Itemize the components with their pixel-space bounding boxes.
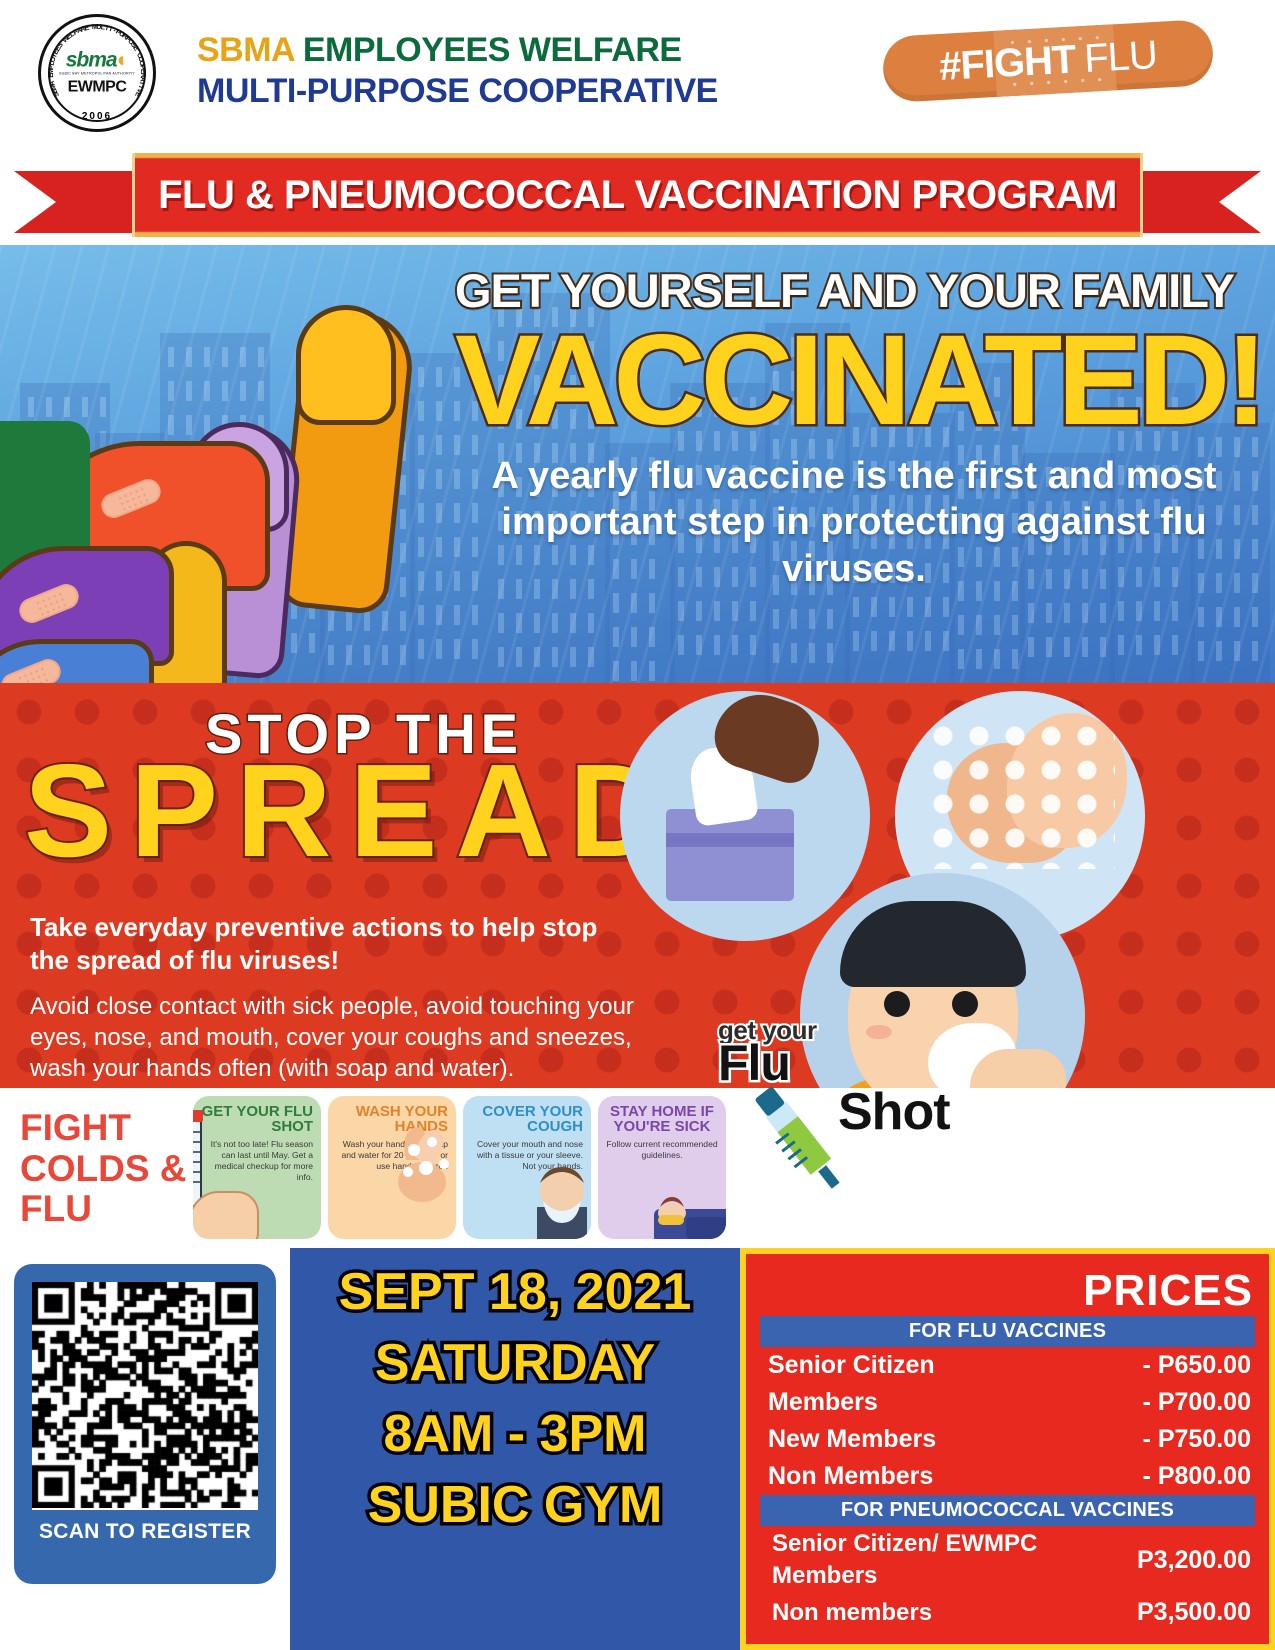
bandage-hashtag: #FIGHT	[938, 37, 1077, 90]
spread-body-1: Take everyday preventive actions to help…	[30, 911, 640, 976]
qr-label: SCAN TO REGISTER	[32, 1520, 258, 1544]
program-ribbon: FLU & PNEUMOCOCCAL VACCINATION PROGRAM	[0, 145, 1275, 245]
price-value: - P800.00	[1143, 1462, 1251, 1491]
logo-acronym: EWMPC	[54, 79, 140, 97]
fight-colds-flu-heading: FIGHT COLDS & FLU	[20, 1108, 190, 1230]
price-row: Senior Citizen/ EWMPC Members P3,200.00	[746, 1526, 1269, 1595]
card-title: COVER YOUR COUGH	[471, 1104, 583, 1135]
flexing-arms-illustration	[0, 291, 460, 683]
poster-header: SBMA EMPLOYEES WELFARE MULTI-PURPOSE COO…	[0, 0, 1275, 145]
hand-holding-syringe-icon	[193, 1191, 259, 1239]
event-time: 8AM - 3PM	[384, 1400, 647, 1469]
hero-body-text: A yearly flu vaccine is the first and mo…	[455, 453, 1261, 592]
price-row: Senior Citizen - P650.00	[746, 1347, 1269, 1384]
org-title-sbma: SBMA	[197, 31, 294, 69]
card-body: Follow current recommended guidelines.	[606, 1139, 718, 1161]
event-day: SATURDAY	[375, 1329, 655, 1398]
pneumococcal-vaccines-header: FOR PNEUMOCOCCAL VACCINES	[760, 1495, 1255, 1526]
bandage-text: #FIGHT FLU	[881, 19, 1214, 103]
tissue-illustration	[620, 691, 870, 941]
bed-rest-icon	[654, 1191, 726, 1239]
boy-eye-right	[952, 991, 978, 1017]
prevention-card-flu-shot: GET YOUR FLU SHOT It's not too late! Flu…	[193, 1096, 321, 1239]
bottom-section: SCAN TO REGISTER SEPT 18, 2021 SATURDAY …	[0, 1248, 1275, 1650]
prevention-card-wash-hands: WASH YOUR HANDS Wash your hands with soa…	[328, 1096, 456, 1239]
spread-headline: SPREAD	[24, 745, 682, 877]
price-value: - P750.00	[1143, 1425, 1251, 1454]
logo-ring-text: SBMA EMPLOYEES WELFARE MULTI-PURPOSE COO…	[41, 17, 153, 129]
sbma-tagline: SUBIC BAY METROPOLITAN AUTHORITY	[54, 72, 140, 76]
card-title: STAY HOME IF YOU'RE SICK	[606, 1104, 718, 1135]
qr-registration-card[interactable]: SCAN TO REGISTER	[14, 1264, 276, 1584]
logo-inner: sbma◐ SUBIC BAY METROPOLITAN AUTHORITY E…	[54, 50, 140, 97]
prices-header: PRICES	[746, 1254, 1269, 1316]
syringe-icon	[755, 1080, 845, 1200]
sbma-wordmark: sbma◐	[54, 50, 140, 71]
price-label: Non Members	[768, 1462, 1143, 1491]
tissue-box-icon	[666, 809, 794, 901]
card-body: It's not too late! Flu season can last u…	[201, 1139, 313, 1184]
prices-panel: PRICES FOR FLU VACCINES Senior Citizen -…	[740, 1248, 1275, 1650]
prevention-card-cover-cough: COVER YOUR COUGH Cover your mouth and no…	[463, 1096, 591, 1239]
stop-the-spread-section: STOP THE SPREAD Take everyday preventive…	[0, 683, 1275, 1088]
ewmpc-logo: SBMA EMPLOYEES WELFARE MULTI-PURPOSE COO…	[38, 14, 173, 134]
price-value: P3,500.00	[1137, 1598, 1251, 1627]
cough-icon	[529, 1163, 591, 1239]
price-row: New Members - P750.00	[746, 1421, 1269, 1458]
prevention-cards: GET YOUR FLU SHOT It's not too late! Flu…	[193, 1096, 726, 1239]
hero-headline-2: VACCINATED!	[455, 320, 1261, 443]
flu-vaccines-header: FOR FLU VACCINES	[760, 1316, 1255, 1347]
logo-year: 2006	[82, 111, 112, 122]
organization-title: SBMA EMPLOYEES WELFARE MULTI-PURPOSE COO…	[197, 32, 718, 109]
hero-text-block: GET YOURSELF AND YOUR FAMILY VACCINATED!…	[455, 263, 1261, 592]
hero-section: GET YOURSELF AND YOUR FAMILY VACCINATED!…	[0, 245, 1275, 683]
shot-word: Shot	[838, 1082, 950, 1142]
boy-eye-left	[884, 991, 910, 1017]
prices-title: PRICES	[1083, 1266, 1253, 1316]
card-title: GET YOUR FLU SHOT	[201, 1104, 313, 1135]
price-label: New Members	[768, 1425, 1143, 1454]
org-title-line2: MULTI-PURPOSE COOPERATIVE	[197, 73, 718, 110]
price-row: Non members P3,500.00	[746, 1595, 1269, 1631]
prevention-strip: FIGHT COLDS & FLU GET YOUR FLU SHOT It's…	[0, 1088, 1275, 1248]
price-label: Senior Citizen	[768, 1351, 1143, 1380]
org-title-line1: SBMA EMPLOYEES WELFARE	[197, 32, 718, 69]
logo-seal: SBMA EMPLOYEES WELFARE MULTI-PURPOSE COO…	[38, 14, 156, 132]
soap-bubbles-icon	[925, 719, 1115, 869]
price-label: Non members	[772, 1597, 1137, 1629]
spread-body-2: Avoid close contact with sick people, av…	[30, 991, 655, 1085]
price-row: Members - P700.00	[746, 1384, 1269, 1421]
price-value: - P650.00	[1143, 1351, 1251, 1380]
boy-hair	[840, 901, 1026, 987]
ribbon-band: FLU & PNEUMOCOCCAL VACCINATION PROGRAM	[132, 153, 1143, 237]
price-value: - P700.00	[1143, 1388, 1251, 1417]
washing-hands-icon	[392, 1120, 456, 1212]
price-label: Senior Citizen/ EWMPC Members	[772, 1528, 1137, 1593]
boy-cheek-left	[866, 1025, 892, 1039]
event-venue: SUBIC GYM	[368, 1471, 663, 1540]
fight-flu-bandage-badge: #FIGHT FLU	[881, 19, 1214, 103]
bandage-flu: FLU	[1083, 32, 1158, 81]
org-title-employees-welfare: EMPLOYEES WELFARE	[303, 31, 682, 69]
price-value: P3,200.00	[1137, 1546, 1251, 1575]
event-details-panel: SEPT 18, 2021 SATURDAY 8AM - 3PM SUBIC G…	[290, 1248, 740, 1650]
price-label: Members	[768, 1388, 1143, 1417]
price-row: Non Members - P800.00	[746, 1458, 1269, 1495]
program-title: FLU & PNEUMOCOCCAL VACCINATION PROGRAM	[158, 173, 1117, 218]
prevention-card-stay-home: STAY HOME IF YOU'RE SICK Follow current …	[598, 1096, 726, 1239]
event-date: SEPT 18, 2021	[339, 1258, 692, 1327]
qr-zone: SCAN TO REGISTER	[0, 1248, 290, 1650]
qr-code-image[interactable]	[32, 1282, 258, 1510]
